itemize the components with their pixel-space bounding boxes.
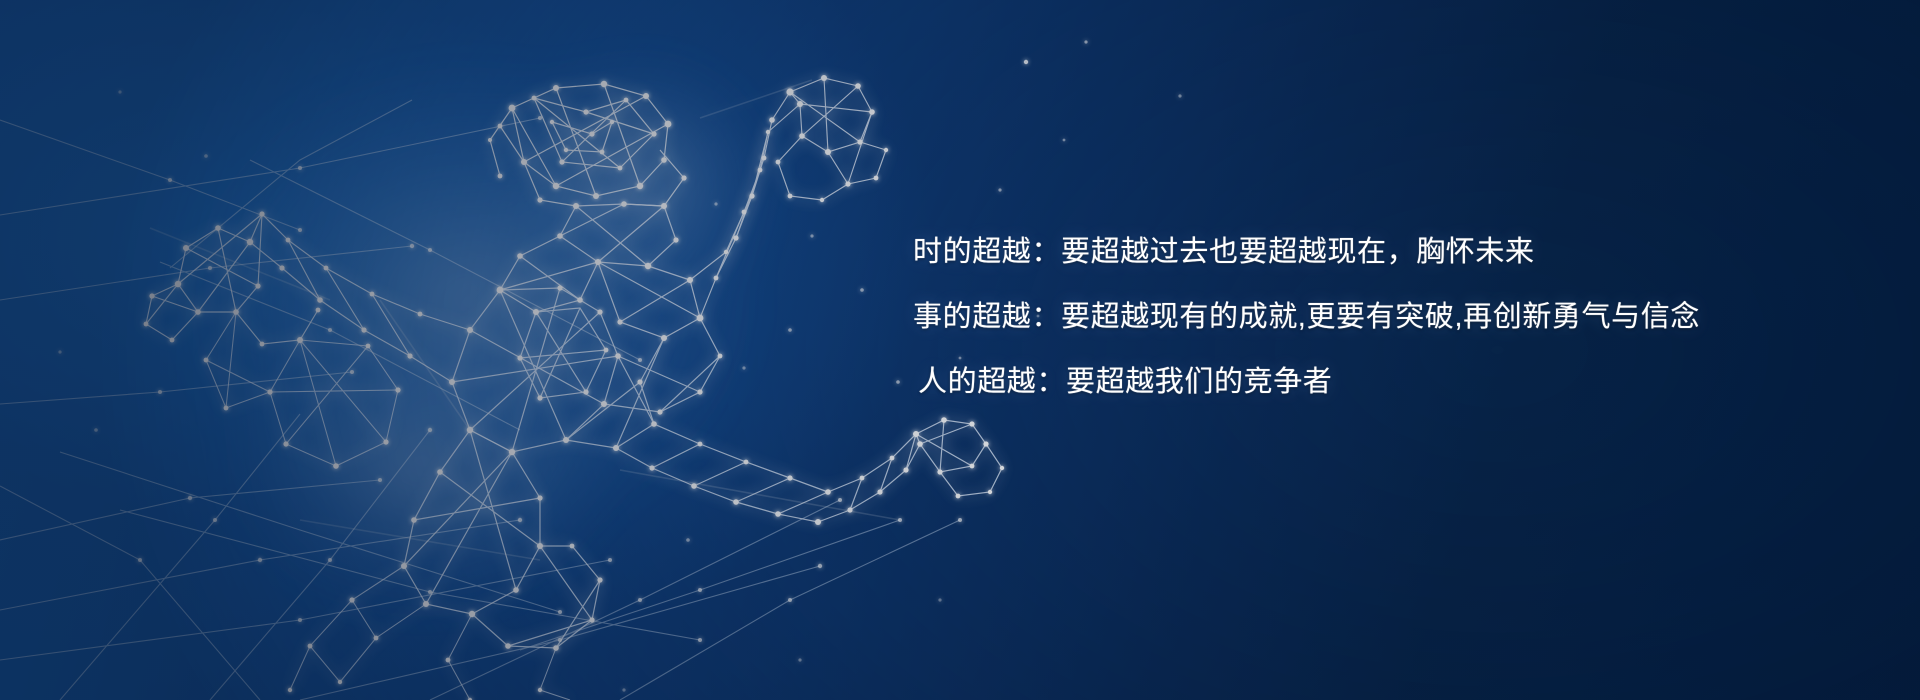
caption-line-3: 人的超越：要超越我们的竞争者: [918, 368, 1793, 397]
caption-line-1: 时的超越：要超越过去也要超越现在，胸怀未来: [913, 238, 1793, 267]
hero-banner: 时的超越：要超越过去也要超越现在，胸怀未来 事的超越：要超越现有的成就,更要有突…: [0, 0, 1920, 700]
caption-block: 时的超越：要超越过去也要超越现在，胸怀未来 事的超越：要超越现有的成就,更要有突…: [913, 238, 1793, 397]
caption-line-2: 事的超越：要超越现有的成就,更要有突破,再创新勇气与信念: [913, 303, 1793, 332]
